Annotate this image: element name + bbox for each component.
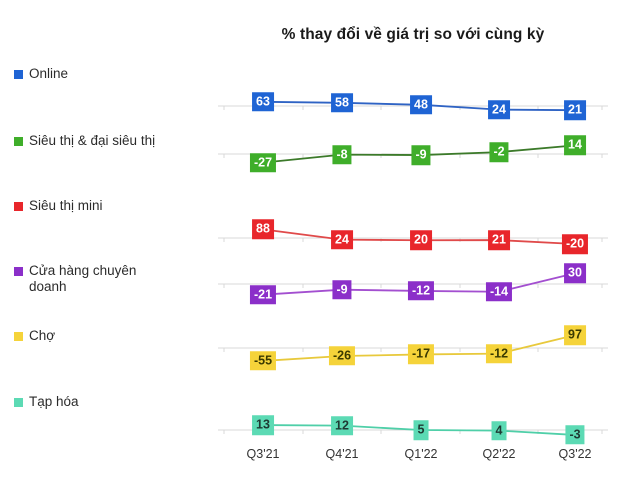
data-label: -14 (486, 282, 512, 302)
legend-swatch-icon (14, 398, 23, 407)
data-label: -55 (250, 351, 276, 371)
legend-item-4[interactable]: Chợ (14, 328, 206, 344)
data-label: 12 (331, 416, 353, 436)
x-axis-tick-1: Q4'21 (326, 447, 359, 461)
data-label: 21 (564, 100, 586, 120)
data-label: 63 (252, 92, 274, 112)
sparkline-panel-4: -55-26-17-1297 (218, 318, 608, 380)
data-label: -9 (411, 145, 430, 165)
data-label: -21 (250, 285, 276, 305)
data-label: -2 (489, 142, 508, 162)
legend-item-label: Tạp hóa (29, 394, 79, 410)
legend-swatch-icon (14, 332, 23, 341)
data-label: -9 (332, 280, 351, 300)
chart-container: % thay đổi về giá trị so với cùng kỳ Onl… (0, 0, 631, 504)
data-label: -27 (250, 153, 276, 173)
data-label: 5 (414, 420, 429, 440)
data-label: 58 (331, 93, 353, 113)
data-label: 21 (488, 230, 510, 250)
data-label: -17 (408, 345, 434, 365)
legend-item-3[interactable]: Cửa hàng chuyên doanh (14, 263, 206, 295)
sparkline-panel-1: -27-8-9-214 (218, 124, 608, 186)
data-label: 88 (252, 220, 274, 240)
data-label: 20 (410, 230, 432, 250)
legend-item-label: Cửa hàng chuyên doanh (29, 263, 136, 295)
data-label: 97 (564, 325, 586, 345)
chart-title: % thay đổi về giá trị so với cùng kỳ (218, 26, 608, 44)
legend-swatch-icon (14, 137, 23, 146)
legend-item-0[interactable]: Online (14, 66, 206, 82)
legend-item-label: Online (29, 66, 68, 82)
legend-swatch-icon (14, 202, 23, 211)
data-label: 14 (564, 136, 586, 156)
x-axis-tick-3: Q2'22 (483, 447, 516, 461)
x-axis-tick-4: Q3'22 (559, 447, 592, 461)
x-axis-tick-2: Q1'22 (405, 447, 438, 461)
sparkline-panel-0: 6358482421 (218, 58, 608, 120)
data-label: 30 (564, 264, 586, 284)
data-label: 13 (252, 415, 274, 435)
data-label: 48 (410, 95, 432, 115)
x-axis-tick-0: Q3'21 (247, 447, 280, 461)
sparkline-panel-2: 88242021-20 (218, 190, 608, 252)
data-label: -8 (332, 145, 351, 165)
legend-item-1[interactable]: Siêu thị & đại siêu thị (14, 133, 206, 149)
legend-item-5[interactable]: Tạp hóa (14, 394, 206, 410)
data-label: 24 (488, 100, 510, 120)
legend-swatch-icon (14, 70, 23, 79)
legend-item-2[interactable]: Siêu thị mini (14, 198, 206, 214)
legend-item-label: Siêu thị & đại siêu thị (29, 133, 155, 149)
data-label: -12 (486, 344, 512, 364)
data-label: -20 (562, 234, 588, 254)
legend-swatch-icon (14, 267, 23, 276)
data-label: 24 (331, 230, 353, 250)
data-label: -12 (408, 281, 434, 301)
data-label: -3 (565, 425, 584, 445)
x-axis-tick-labels: Q3'21Q4'21Q1'22Q2'22Q3'22 (218, 447, 608, 469)
data-label: -26 (329, 346, 355, 366)
chart-legend: OnlineSiêu thị & đại siêu thịSiêu thị mi… (14, 0, 214, 504)
sparkline-panel-5: 131254-3 (218, 382, 608, 444)
legend-item-label: Chợ (29, 328, 55, 344)
data-label: 4 (492, 421, 507, 441)
legend-item-label: Siêu thị mini (29, 198, 103, 214)
sparkline-panel-3: -21-9-12-1430 (218, 254, 608, 316)
